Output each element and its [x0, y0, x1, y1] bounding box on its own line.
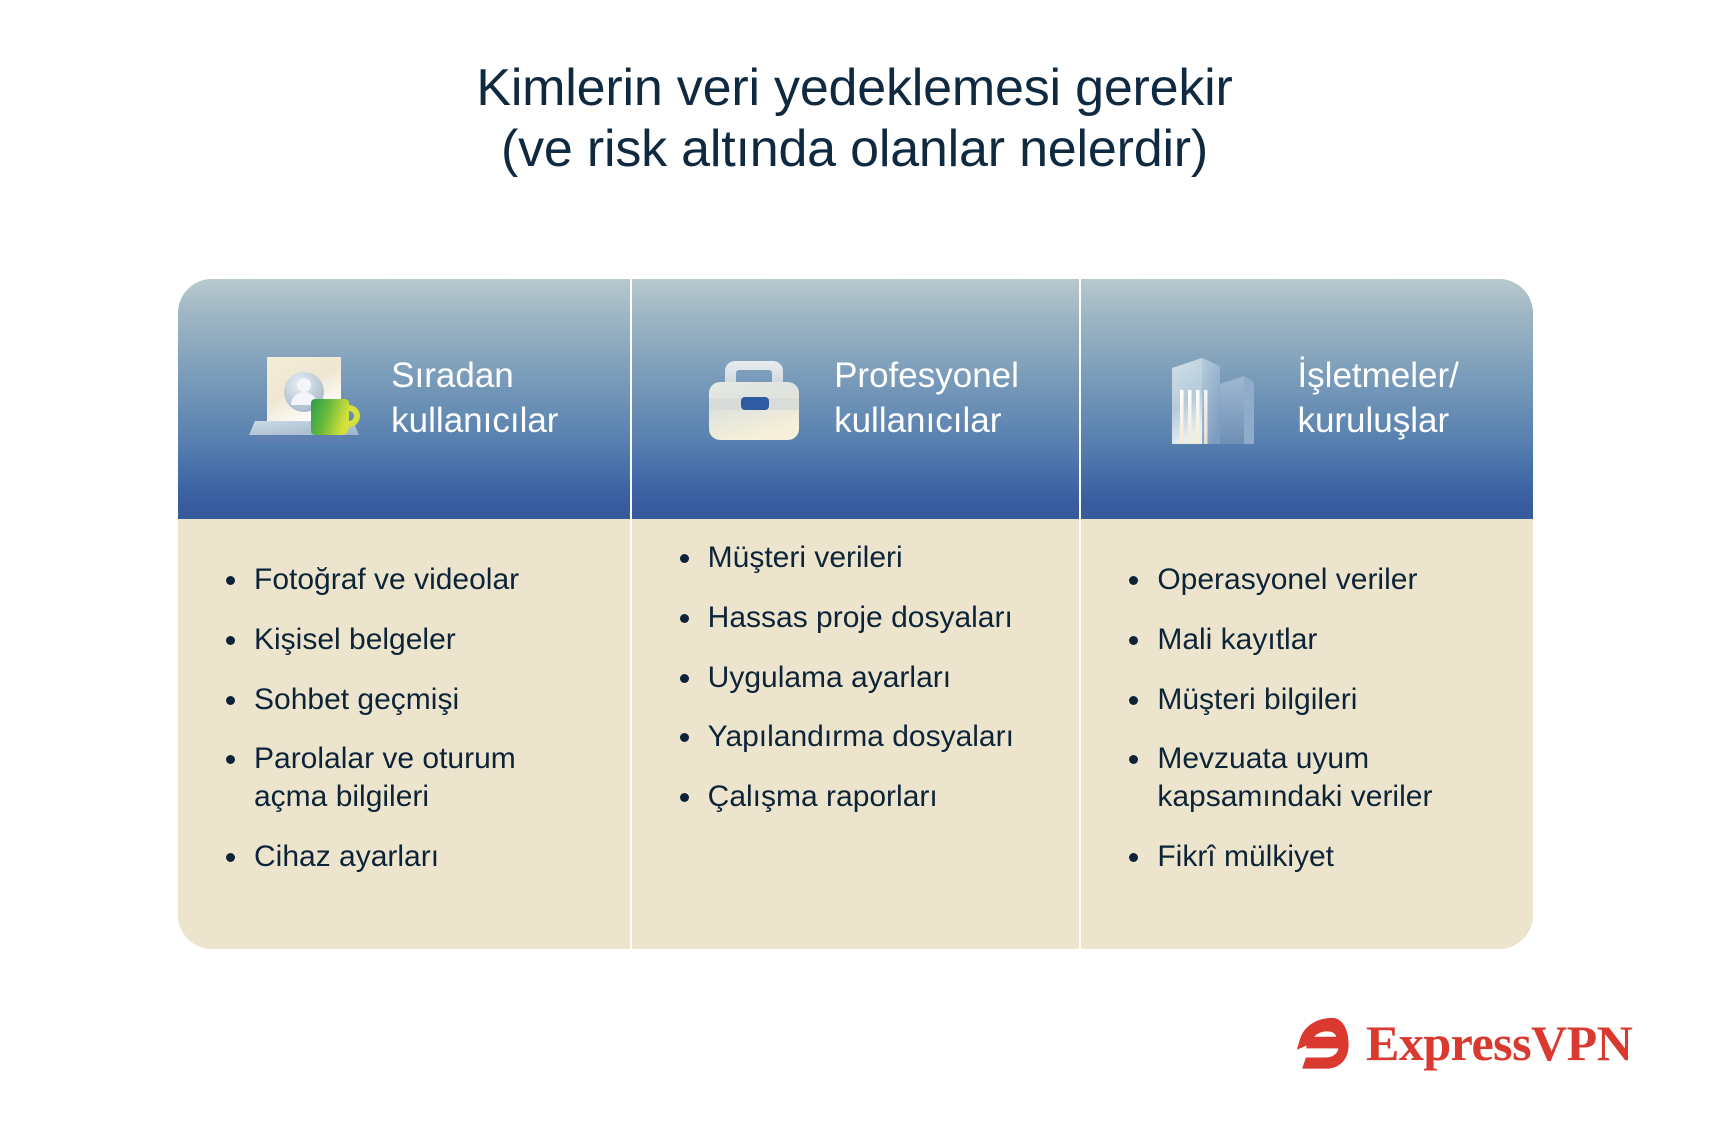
card-heading-businesses-organizations: İşletmeler/ kuruluşlar [1297, 354, 1458, 444]
bullet-list-everyday-users: Fotoğraf ve videolar Kişisel belgeler So… [220, 561, 620, 876]
office-buildings-icon [1155, 344, 1279, 454]
list-item: Mevzuata uyum kapsamındaki veriler [1123, 740, 1523, 816]
list-item: Kişisel belgeler [220, 621, 620, 659]
card-heading-everyday-users: Sıradan kullanıcılar [391, 354, 558, 444]
bullet-list-businesses-organizations: Operasyonel veriler Mali kayıtlar Müşter… [1123, 561, 1523, 876]
card-header-businesses-organizations: İşletmeler/ kuruluşlar [1081, 279, 1533, 519]
list-item: Mali kayıtlar [1123, 621, 1523, 659]
list-item: Parolalar ve oturum açma bilgileri [220, 740, 620, 816]
list-item: Hassas proje dosyaları [674, 599, 1070, 637]
expressvpn-logo: ExpressVPN [1290, 1012, 1632, 1074]
list-item: Müşteri verileri [674, 539, 1070, 577]
card-everyday-users: Sıradan kullanıcılar Fotoğraf ve videola… [178, 279, 630, 949]
list-item: Operasyonel veriler [1123, 561, 1523, 599]
card-professional-users: Profesyonel kullanıcılar Müşteri veriler… [632, 279, 1080, 949]
card-body-businesses-organizations: Operasyonel veriler Mali kayıtlar Müşter… [1081, 519, 1533, 949]
page-title: Kimlerin veri yedeklemesi gerekir (ve ri… [0, 0, 1709, 180]
card-body-professional-users: Müşteri verileri Hassas proje dosyaları … [632, 519, 1080, 949]
page-title-line-1: Kimlerin veri yedeklemesi gerekir [0, 58, 1709, 119]
expressvpn-wordmark: ExpressVPN [1366, 1018, 1632, 1068]
card-header-professional-users: Profesyonel kullanıcılar [632, 279, 1080, 519]
card-body-everyday-users: Fotoğraf ve videolar Kişisel belgeler So… [178, 519, 630, 949]
list-item: Sohbet geçmişi [220, 681, 620, 719]
expressvpn-e-mark-icon [1290, 1012, 1352, 1074]
list-item: Çalışma raporları [674, 778, 1070, 816]
category-cards: Sıradan kullanıcılar Fotoğraf ve videola… [178, 279, 1533, 949]
card-header-everyday-users: Sıradan kullanıcılar [178, 279, 630, 519]
briefcase-icon [692, 344, 816, 454]
list-item: Fotoğraf ve videolar [220, 561, 620, 599]
list-item: Müşteri bilgileri [1123, 681, 1523, 719]
list-item: Cihaz ayarları [220, 838, 620, 876]
card-heading-professional-users: Profesyonel kullanıcılar [834, 354, 1019, 444]
list-item: Yapılandırma dosyaları [674, 718, 1070, 756]
list-item: Fikrî mülkiyet [1123, 838, 1523, 876]
bullet-list-professional-users: Müşteri verileri Hassas proje dosyaları … [674, 539, 1070, 816]
page-title-line-2: (ve risk altında olanlar nelerdir) [0, 119, 1709, 180]
list-item: Uygulama ayarları [674, 659, 1070, 697]
laptop-user-mug-icon [249, 344, 373, 454]
card-businesses-organizations: İşletmeler/ kuruluşlar Operasyonel veril… [1081, 279, 1533, 949]
